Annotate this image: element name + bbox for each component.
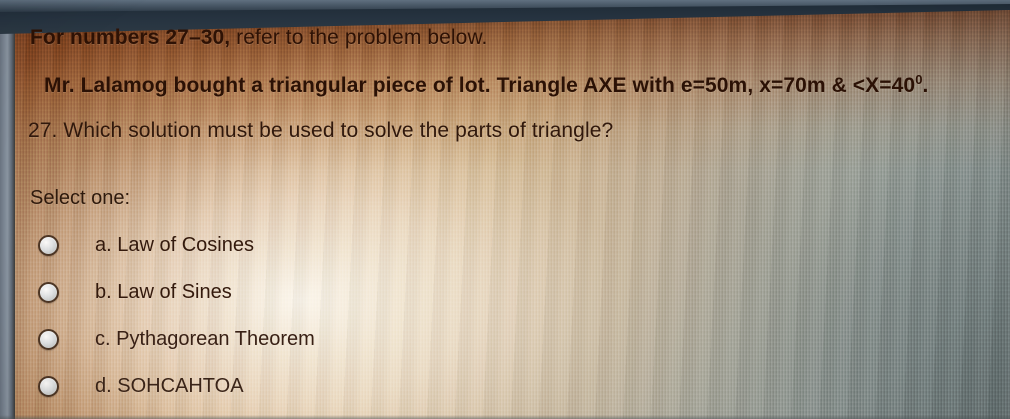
answer-option-a[interactable]: a. Law of Cosines [0,222,1010,269]
answer-option-d-label[interactable]: d. SOHCAHTOA [95,375,244,398]
degree-superscript: 0 [915,72,922,87]
problem-statement-period: . [923,74,929,97]
select-one-prompt: Select one: [30,187,130,210]
answer-option-b-label[interactable]: b. Law of Sines [95,281,232,304]
answer-option-c[interactable]: c. Pythagorean Theorem [0,316,1010,363]
radio-button-d[interactable] [38,376,59,397]
instruction-line: For numbers 27–30, refer to the problem … [30,26,488,50]
answer-option-a-label[interactable]: a. Law of Cosines [95,234,254,257]
instruction-rest-label: refer to the problem below. [230,26,487,49]
quiz-question-content: For numbers 27–30, refer to the problem … [0,0,1010,419]
photographed-screen: For numbers 27–30, refer to the problem … [0,0,1010,419]
radio-button-b[interactable] [38,282,59,303]
answer-options-list: a. Law of Cosines b. Law of Sines c. Pyt… [0,222,1010,410]
question-text: 27. Which solution must be used to solve… [28,119,613,143]
problem-statement-text: Mr. Lalamog bought a triangular piece of… [44,74,915,97]
problem-statement: Mr. Lalamog bought a triangular piece of… [44,74,928,98]
answer-option-c-label[interactable]: c. Pythagorean Theorem [95,328,315,351]
radio-button-a[interactable] [38,235,59,256]
radio-button-c[interactable] [38,329,59,350]
answer-option-b[interactable]: b. Law of Sines [0,269,1010,316]
instruction-range-label: For numbers 27–30, [30,26,230,49]
answer-option-d[interactable]: d. SOHCAHTOA [0,363,1010,410]
